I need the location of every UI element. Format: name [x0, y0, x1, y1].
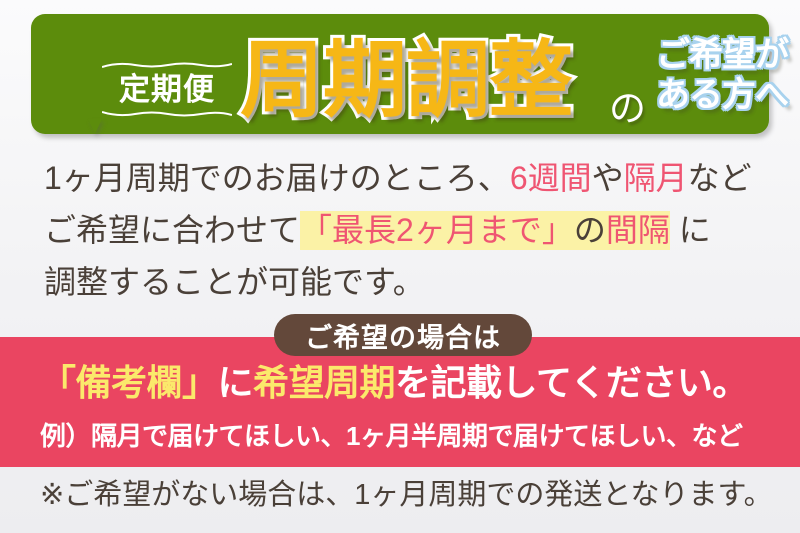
body-line-1-seg-5: など [688, 160, 752, 196]
body-line-2-seg-1: ご希望に合わせて [44, 212, 300, 248]
body-line-1-accent-1: 6週間 [510, 160, 592, 196]
speech-bubble-tail-icon [88, 119, 102, 134]
callout-main-seg-3: 希望周期 [253, 362, 395, 403]
callout-example-text: 例）隔月で届けてほしい、1ヶ月半周期で届けてほしい、など [40, 423, 770, 449]
wavy-rule-bottom-icon [102, 110, 232, 117]
body-line-3: 調整することが可能です。 [44, 256, 764, 308]
audience-line-2: ある方へ [647, 78, 797, 113]
audience-text: ご希望が ある方へ [647, 38, 797, 112]
callout-main-seg-2: に [218, 362, 254, 403]
callout-main-text: 「備考欄」に希望周期を記載してください。 [40, 365, 770, 401]
body-paragraph: 1ヶ月周期でのお届けのところ、6週間や隔月など ご希望に合わせて「最長2ヶ月まで… [44, 152, 764, 308]
callout-main-seg-1: 「備考欄」 [40, 362, 218, 403]
wavy-rule-top-icon [102, 62, 232, 69]
body-line-1-accent-2: 隔月 [624, 160, 688, 196]
body-line-2-accent-2: 間隔 [606, 212, 670, 248]
footer-note: ※ご希望がない場合は、1ヶ月周期での発送となります。 [40, 481, 773, 510]
body-line-1-seg-3: や [592, 160, 624, 196]
callout-pill: ご希望の場合は [274, 314, 532, 356]
callout-main-seg-4: を記載してください。 [395, 362, 748, 403]
audience-line-1: ご希望が [647, 38, 797, 73]
headline-particle: の [609, 90, 646, 127]
subscription-badge-label: 定期便 [119, 69, 215, 110]
body-line-1: 1ヶ月周期でのお届けのところ、6週間や隔月など [44, 152, 764, 204]
body-line-2-seg-3: の [574, 212, 606, 248]
headline-text: 周期調整 [240, 36, 572, 124]
body-line-2-seg-5: に [670, 212, 711, 248]
subscription-badge: 定期便 [97, 44, 237, 134]
callout-pill-label: ご希望の場合は [305, 316, 501, 355]
body-line-2: ご希望に合わせて「最長2ヶ月まで」の間隔 に [44, 204, 764, 256]
body-line-2-marker: 「最長2ヶ月まで」の間隔 [300, 211, 670, 250]
body-line-2-accent-1: 「最長2ヶ月まで」 [300, 212, 574, 248]
header-panel: 定期便 周期調整 の ご希望が ある方へ [31, 14, 769, 134]
promotional-banner: 定期便 周期調整 の ご希望が ある方へ 1ヶ月周期でのお届けのところ、6週間や… [0, 0, 800, 533]
body-line-1-seg-1: 1ヶ月周期でのお届けのところ、 [44, 160, 510, 196]
